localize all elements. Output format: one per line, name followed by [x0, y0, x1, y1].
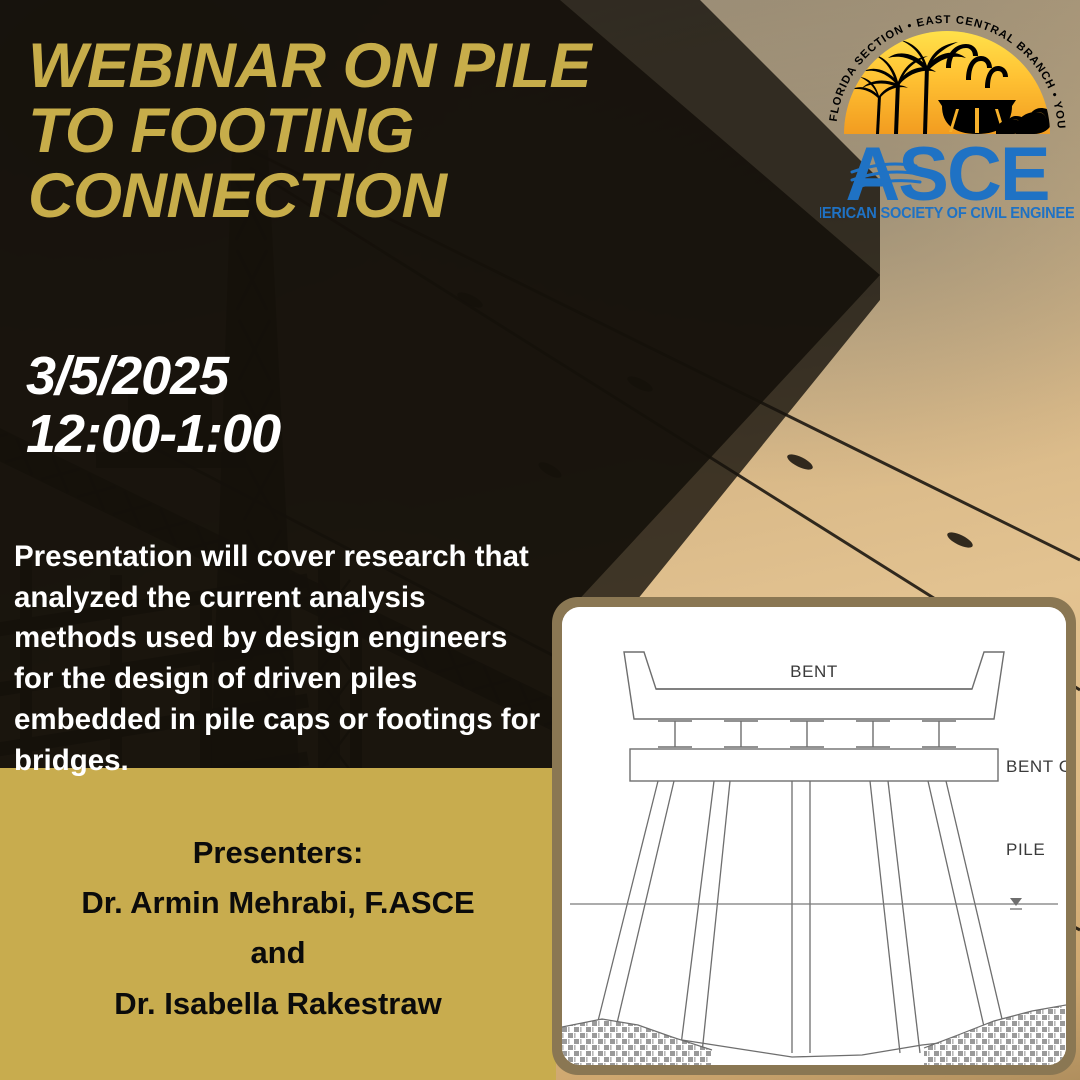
asce-logo: FLORIDA SECTION • EAST CENTRAL BRANCH • …	[820, 2, 1074, 224]
asce-tagline: AMERICAN SOCIETY OF CIVIL ENGINEERS	[820, 205, 1074, 222]
event-date: 3/5/2025	[26, 347, 280, 405]
bent-cap-element	[630, 749, 998, 781]
pile-diagram: BENT BENT CAP PILE	[562, 607, 1066, 1065]
event-time: 12:00-1:00	[26, 405, 280, 463]
title-line-3: CONNECTION	[28, 164, 728, 229]
presenter-name-2: Dr. Isabella Rakestraw	[0, 979, 556, 1029]
presenters-block: Presenters: Dr. Armin Mehrabi, F.ASCE an…	[0, 828, 556, 1029]
presenter-name-1: Dr. Armin Mehrabi, F.ASCE	[0, 878, 556, 928]
presenters-heading: Presenters:	[0, 828, 556, 878]
page-title: WEBINAR ON PILE TO FOOTING CONNECTION	[28, 34, 728, 229]
diagram-label-bent-cap: BENT CAP	[1006, 757, 1066, 776]
event-description: Presentation will cover research that an…	[14, 537, 554, 781]
title-line-1: WEBINAR ON PILE	[28, 34, 728, 99]
webinar-flyer: WEBINAR ON PILE TO FOOTING CONNECTION 3/…	[0, 0, 1080, 1080]
title-line-2: TO FOOTING	[28, 99, 728, 164]
presenters-conjunction: and	[0, 928, 556, 978]
diagram-label-bent: BENT	[790, 662, 838, 681]
pile-diagram-card: BENT BENT CAP PILE	[552, 597, 1076, 1075]
diagram-label-pile: PILE	[1006, 840, 1045, 859]
event-datetime: 3/5/2025 12:00-1:00	[26, 347, 280, 464]
